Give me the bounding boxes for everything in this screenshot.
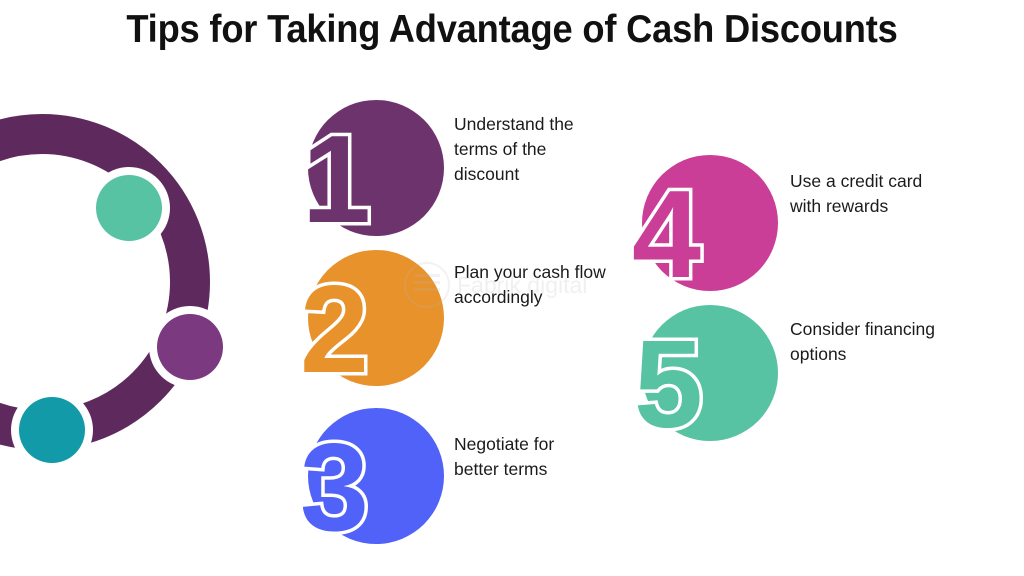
page-title: Tips for Taking Advantage of Cash Discou… <box>36 8 988 52</box>
tip-text-5: Consider financing options <box>790 317 990 367</box>
ring-dot-purple <box>149 306 231 388</box>
tip-number-5: 5 <box>634 316 700 454</box>
tip-number-4: 4 <box>632 166 701 304</box>
tip-number-2: 2 <box>300 261 366 399</box>
tip-item-5[interactable]: 5 Consider financing options <box>630 303 990 443</box>
ring-dot-teal <box>11 389 93 471</box>
tip-badge-2: 2 <box>296 248 448 388</box>
slide-canvas: Tips for Taking Advantage of Cash Discou… <box>0 0 1024 576</box>
tip-text-2: Plan your cash flow accordingly <box>454 260 654 310</box>
tip-badge-3: 3 <box>296 406 448 546</box>
tip-badge-4: 4 <box>630 153 782 293</box>
tip-item-2[interactable]: 2 Plan your cash flow accordingly <box>296 248 654 388</box>
tip-item-3[interactable]: 3 Negotiate for better terms <box>296 406 634 546</box>
tip-text-4: Use a credit card with rewards <box>790 169 975 219</box>
tip-text-1: Understand the terms of the discount <box>454 112 634 187</box>
tip-item-4[interactable]: 4 Use a credit card with rewards <box>630 153 975 293</box>
tip-text-3: Negotiate for better terms <box>454 432 634 482</box>
tip-number-3: 3 <box>300 419 366 557</box>
ring-band <box>0 134 190 430</box>
segmented-ring-graphic <box>0 92 232 472</box>
ring-dot-green <box>88 167 170 249</box>
tip-item-1[interactable]: 1 Understand the terms of the discount <box>296 98 634 238</box>
tip-badge-5: 5 <box>630 303 782 443</box>
tip-badge-1: 1 <box>296 98 448 238</box>
tip-number-1: 1 <box>302 111 368 249</box>
